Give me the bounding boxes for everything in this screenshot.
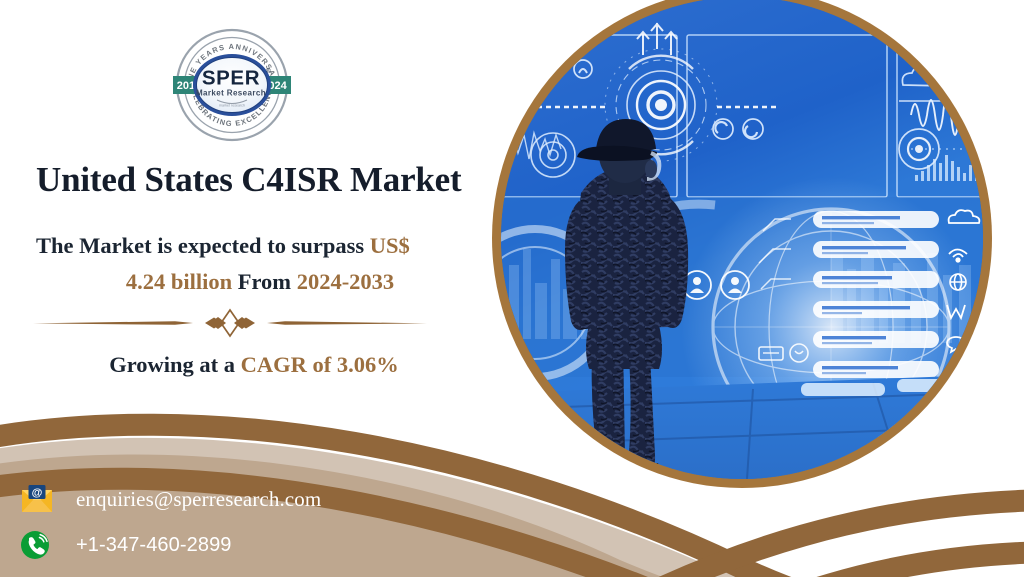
contact-email-text: enquiries@sperresearch.com: [76, 487, 321, 512]
contact-row-phone[interactable]: +1-347-460-2899: [20, 524, 450, 566]
forecast-currency: US$: [370, 233, 410, 258]
ornamental-divider: [25, 307, 435, 339]
cagr-label: CAGR of: [241, 352, 337, 377]
logo-tagline: Market Research: [196, 89, 266, 98]
contact-block: @ enquiries@sperresearch.com +1-347-460-…: [20, 478, 450, 566]
forecast-period: 2024-2033: [297, 269, 395, 294]
market-forecast-statement: The Market is expected to surpass US$ 4.…: [28, 228, 480, 301]
logo-wordmark: SPER: [202, 67, 260, 90]
swoosh-line-3: [560, 500, 1024, 577]
forecast-prefix: The Market is expected to surpass: [36, 233, 370, 258]
envelope-at-icon: @: [20, 484, 54, 514]
phone-ringing-icon: [20, 530, 54, 560]
hero-circle: [492, 0, 992, 488]
forecast-connector: From: [232, 269, 297, 294]
logo-svg: NINE YEARS ANNIVERSARY CELEBRATING EXCEL…: [173, 26, 291, 144]
contact-row-email[interactable]: @ enquiries@sperresearch.com: [20, 478, 450, 520]
marketing-poster: NINE YEARS ANNIVERSARY CELEBRATING EXCEL…: [0, 0, 1024, 577]
swoosh-line-4: [600, 552, 1024, 577]
forecast-value: 4.24 billion: [126, 269, 232, 294]
cagr-prefix: Growing at a: [109, 352, 240, 377]
cagr-statement: Growing at a CAGR of 3.06%: [28, 352, 480, 378]
sper-logo-badge: NINE YEARS ANNIVERSARY CELEBRATING EXCEL…: [173, 26, 291, 144]
hero-illustration: [501, 0, 983, 479]
contact-phone-text: +1-347-460-2899: [76, 534, 232, 557]
page-title: United States C4ISR Market: [36, 160, 476, 200]
divider-icon: [25, 307, 435, 339]
logo-registered-mark: ®: [266, 67, 271, 75]
logo-micro-text: market research: [219, 104, 245, 108]
cagr-value: 3.06%: [337, 352, 399, 377]
svg-text:@: @: [32, 487, 43, 499]
hero-image-clip: [501, 0, 983, 479]
